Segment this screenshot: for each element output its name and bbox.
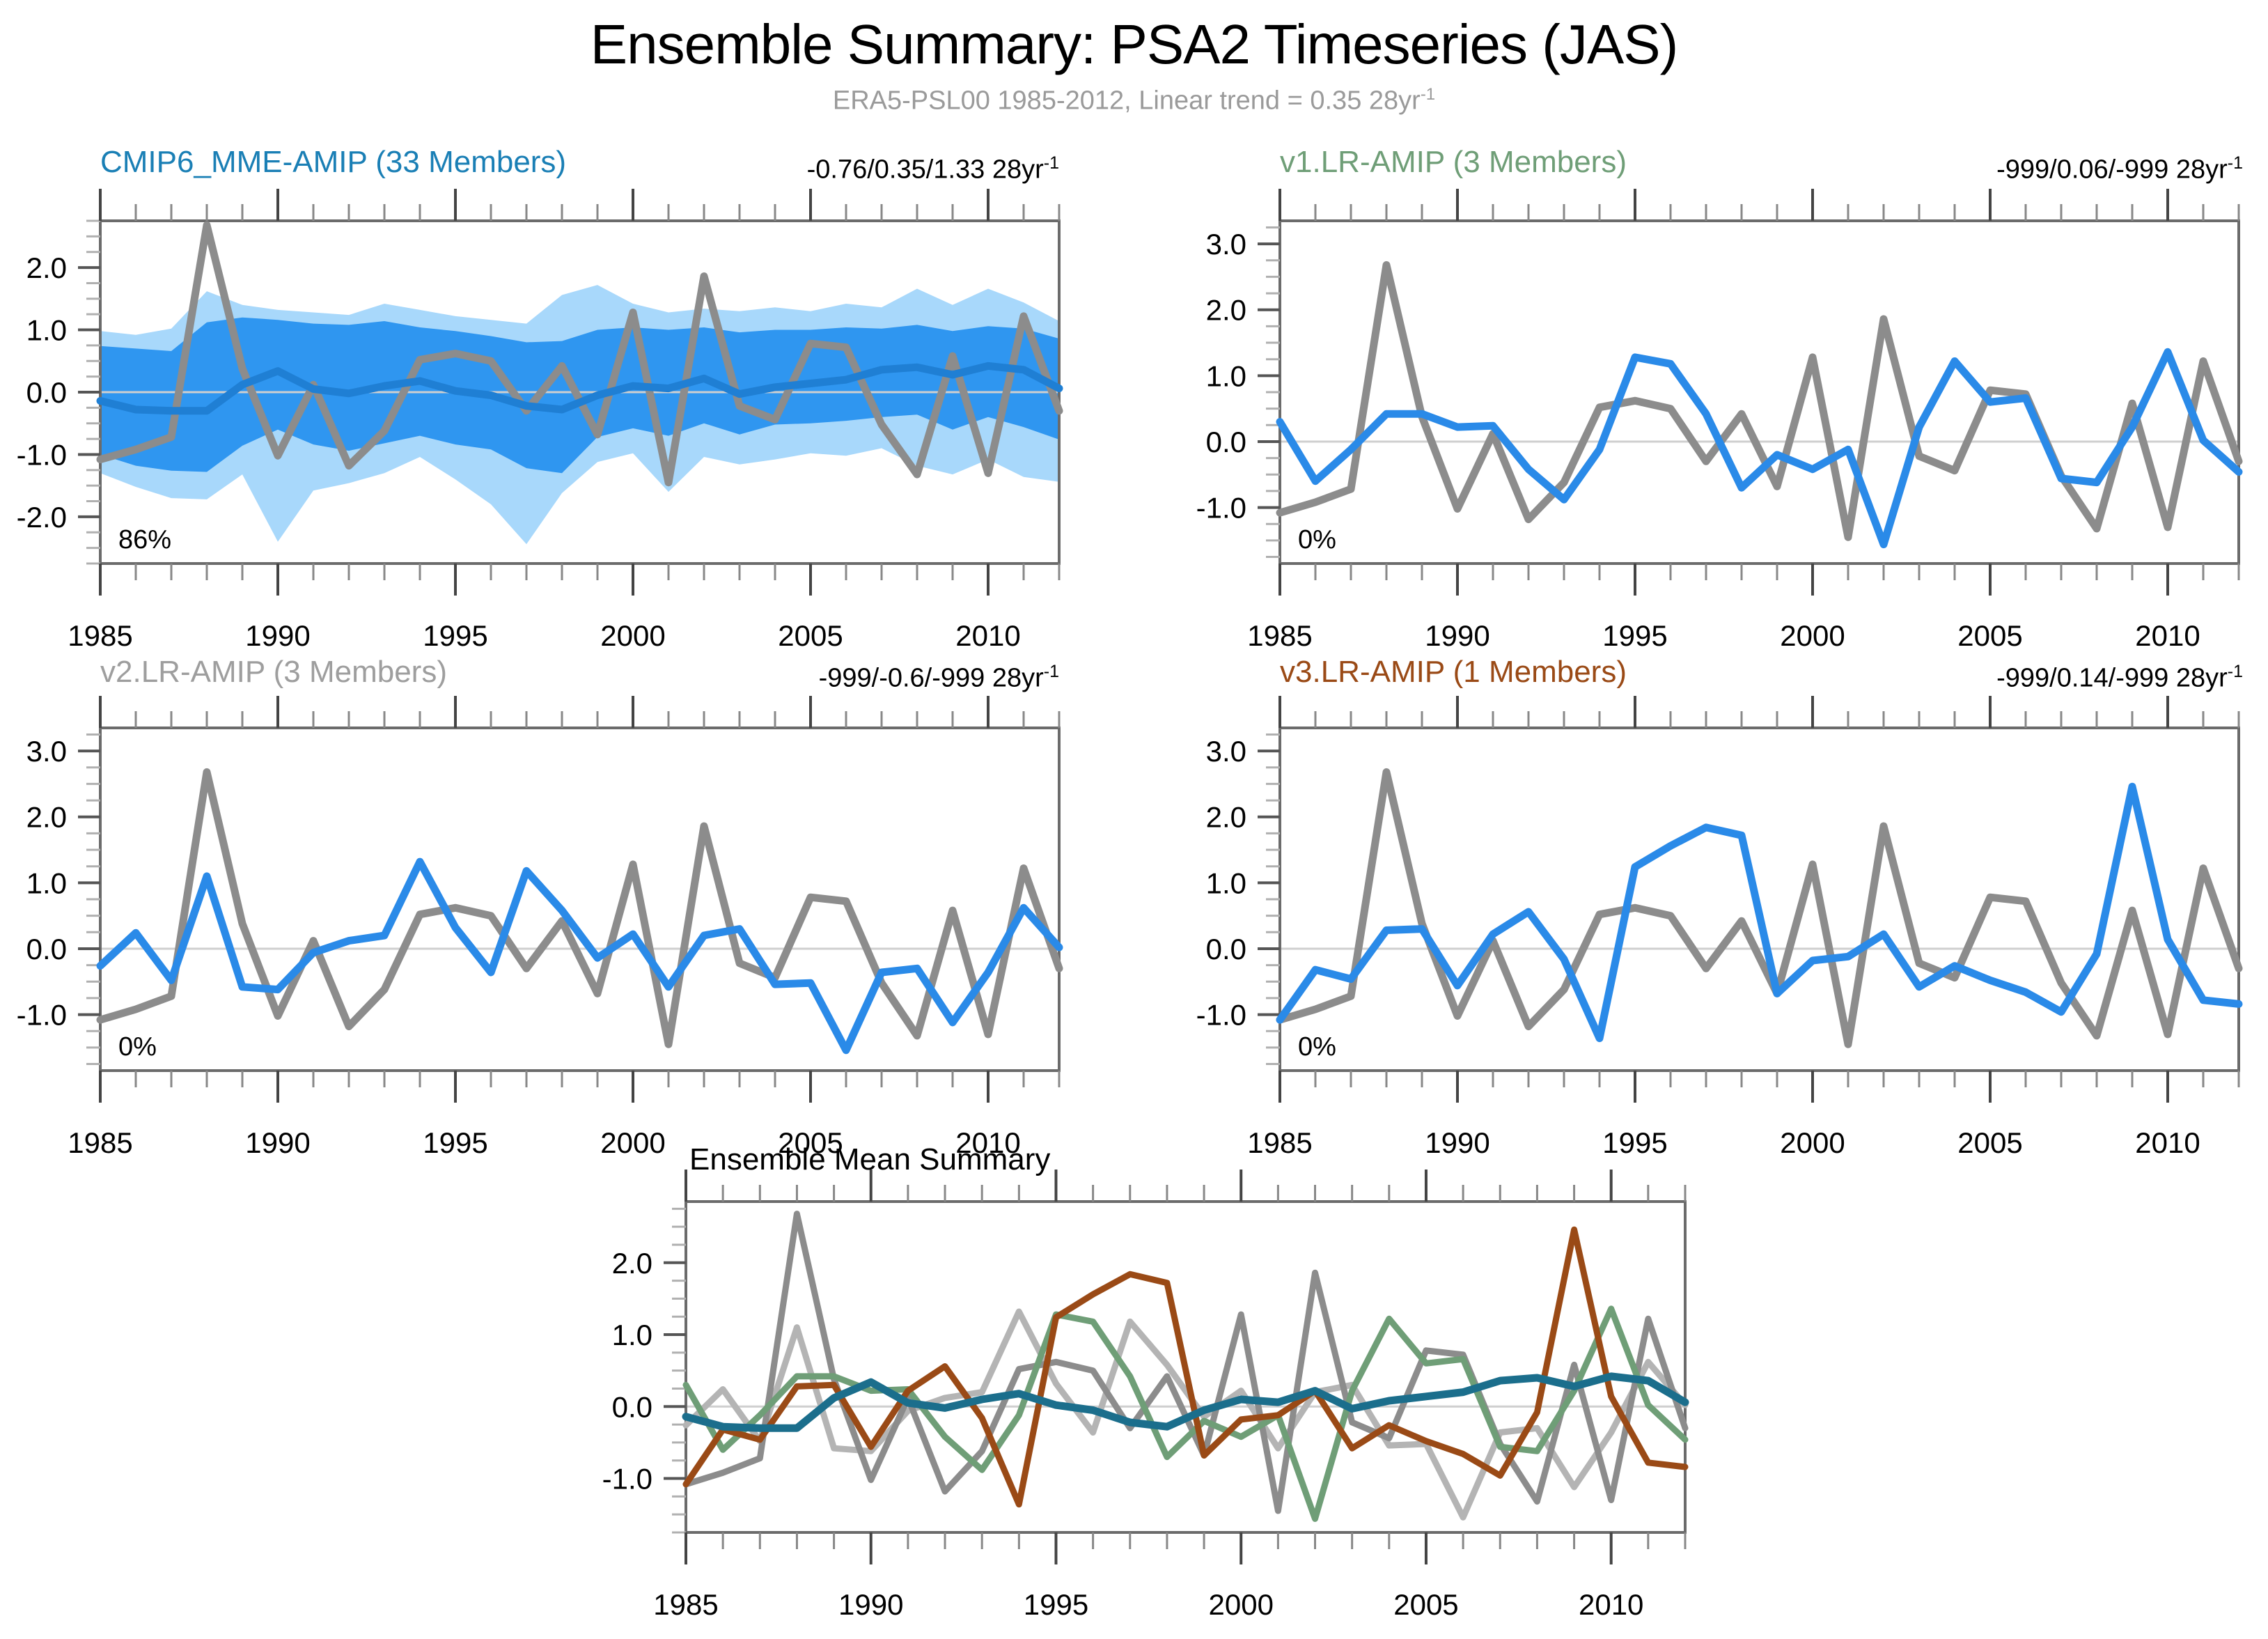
x-axis-tick-label: 1990 — [838, 1588, 903, 1621]
y-axis-tick-label: 1.0 — [612, 1319, 652, 1351]
agreement-percent-label: 86% — [118, 525, 171, 554]
y-axis-tick-label: 2.0 — [1206, 294, 1246, 327]
x-axis-tick-label: 1995 — [1602, 619, 1667, 652]
x-axis-tick-label: 1990 — [1425, 619, 1489, 652]
x-axis-tick-label: 1990 — [245, 1126, 310, 1159]
y-axis-tick-label: 3.0 — [26, 735, 67, 768]
y-axis-tick-label: 0.0 — [1206, 933, 1246, 965]
x-axis-tick-label: 1995 — [1602, 1126, 1667, 1159]
agreement-percent-label: 0% — [1298, 525, 1336, 554]
x-axis-tick-label: 1985 — [1247, 619, 1312, 652]
panel-title-v2: v2.LR-AMIP (3 Members) — [100, 655, 447, 690]
y-axis-tick-label: 1.0 — [1206, 359, 1246, 392]
panel-trend-v2: -999/-0.6/-999 28yr-1 — [696, 662, 1059, 694]
panel-cmip6: -2.0-1.00.01.02.019851990199520002005201… — [0, 195, 1128, 627]
y-axis-tick-label: 2.0 — [1206, 801, 1246, 834]
x-axis-tick-label: 2000 — [1209, 1588, 1274, 1621]
y-axis-tick-label: 3.0 — [1206, 735, 1246, 768]
subtitle-superscript: -1 — [1421, 85, 1435, 104]
panel-summary: -1.00.01.02.0198519901995200020052010 — [487, 1184, 1811, 1630]
y-axis-tick-label: 1.0 — [1206, 867, 1246, 899]
y-axis-tick-label: 0.0 — [612, 1390, 652, 1423]
x-axis-tick-label: 1995 — [423, 619, 487, 652]
plot-frame — [100, 728, 1059, 1071]
y-axis-tick-label: 2.0 — [26, 801, 67, 834]
timeseries-line — [1280, 265, 2239, 537]
x-axis-tick-label: 2005 — [1957, 619, 2022, 652]
x-axis-tick-label: 1995 — [423, 1126, 487, 1159]
x-axis-tick-label: 2010 — [1579, 1588, 1643, 1621]
panel-title-cmip6: CMIP6_MME-AMIP (33 Members) — [100, 145, 566, 180]
x-axis-tick-label: 2010 — [955, 619, 1020, 652]
x-axis-tick-label: 2000 — [1780, 1126, 1845, 1159]
panel-title-v3: v3.LR-AMIP (1 Members) — [1280, 655, 1627, 690]
page-subtitle: ERA5-PSL00 1985-2012, Linear trend = 0.3… — [0, 85, 2268, 116]
x-axis-tick-label: 1985 — [1247, 1126, 1312, 1159]
y-axis-tick-label: -2.0 — [17, 501, 67, 534]
panel-v3: -1.00.01.02.03.0198519901995200020052010… — [1180, 702, 2268, 1134]
y-axis-tick-label: -1.0 — [17, 438, 67, 471]
y-axis-tick-label: 0.0 — [26, 933, 67, 965]
panel-trend-v3: -999/0.14/-999 28yr-1 — [1880, 662, 2243, 694]
y-axis-tick-label: 3.0 — [1206, 228, 1246, 261]
x-axis-tick-label: 1990 — [245, 619, 310, 652]
x-axis-tick-label: 1985 — [68, 1126, 132, 1159]
x-axis-tick-label: 1985 — [68, 619, 132, 652]
y-axis-tick-label: -1.0 — [17, 999, 67, 1032]
y-axis-tick-label: 2.0 — [612, 1247, 652, 1280]
panel-title-v1: v1.LR-AMIP (3 Members) — [1280, 145, 1627, 180]
plot-frame — [1280, 221, 2239, 564]
timeseries-line — [100, 772, 1059, 1044]
x-axis-tick-label: 2010 — [2135, 619, 2200, 652]
x-axis-tick-label: 2000 — [1780, 619, 1845, 652]
panel-trend-cmip6: -0.76/0.35/1.33 28yr-1 — [696, 153, 1059, 185]
page-title: Ensemble Summary: PSA2 Timeseries (JAS) — [0, 13, 2268, 77]
y-axis-tick-label: -1.0 — [602, 1463, 652, 1496]
y-axis-tick-label: 2.0 — [26, 251, 67, 284]
x-axis-tick-label: 2000 — [600, 1126, 665, 1159]
x-axis-tick-label: 1985 — [653, 1588, 718, 1621]
y-axis-tick-label: 1.0 — [26, 314, 67, 347]
x-axis-tick-label: 2005 — [778, 619, 843, 652]
x-axis-tick-label: 2000 — [600, 619, 665, 652]
panel-trend-v1: -999/0.06/-999 28yr-1 — [1880, 153, 2243, 185]
y-axis-tick-label: 0.0 — [1206, 426, 1246, 458]
y-axis-tick-label: -1.0 — [1196, 492, 1246, 525]
timeseries-line — [686, 1229, 1685, 1504]
x-axis-tick-label: 1990 — [1425, 1126, 1489, 1159]
x-axis-tick-label: 1995 — [1024, 1588, 1088, 1621]
y-axis-tick-label: -1.0 — [1196, 999, 1246, 1032]
y-axis-tick-label: 0.0 — [26, 376, 67, 409]
panel-v2: -1.00.01.02.03.0198519901995200020052010… — [0, 702, 1128, 1134]
timeseries-line — [1280, 786, 2239, 1038]
x-axis-tick-label: 2005 — [1393, 1588, 1458, 1621]
agreement-percent-label: 0% — [118, 1032, 157, 1062]
subtitle-text: ERA5-PSL00 1985-2012, Linear trend = 0.3… — [833, 86, 1421, 116]
x-axis-tick-label: 2005 — [1957, 1126, 2022, 1159]
panel-v1: -1.00.01.02.03.0198519901995200020052010… — [1180, 195, 2268, 627]
x-axis-tick-label: 2010 — [2135, 1126, 2200, 1159]
agreement-percent-label: 0% — [1298, 1032, 1336, 1062]
y-axis-tick-label: 1.0 — [26, 867, 67, 899]
